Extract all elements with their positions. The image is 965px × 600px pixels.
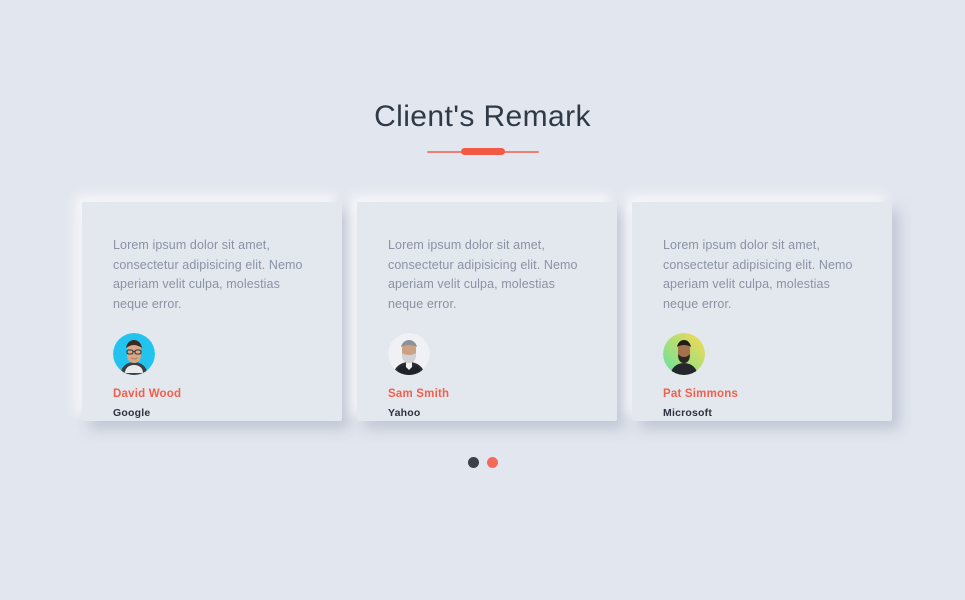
testimonial-card[interactable]: Lorem ipsum dolor sit amet, consectetur … [632,202,892,421]
person-company: Microsoft [663,407,866,419]
underline-thick-bar [461,148,505,155]
testimonial-quote: Lorem ipsum dolor sit amet, consectetur … [113,236,313,314]
section-heading: Client's Remark [0,98,965,157]
carousel-pagination [0,457,965,468]
title-underline-icon [427,147,539,157]
avatar [113,333,155,375]
person-name: David Wood [113,388,316,400]
testimonial-card-list: Lorem ipsum dolor sit amet, consectetur … [82,202,892,422]
pagination-dot-1[interactable] [468,457,479,468]
person-name: Pat Simmons [663,388,866,400]
testimonial-card[interactable]: Lorem ipsum dolor sit amet, consectetur … [82,202,342,421]
avatar [388,333,430,375]
avatar [663,333,705,375]
testimonial-quote: Lorem ipsum dolor sit amet, consectetur … [663,236,863,314]
pagination-dot-2[interactable] [487,457,498,468]
testimonial-quote: Lorem ipsum dolor sit amet, consectetur … [388,236,588,314]
person-name: Sam Smith [388,388,591,400]
person-company: Google [113,407,316,419]
page-title: Client's Remark [0,98,965,136]
testimonial-card[interactable]: Lorem ipsum dolor sit amet, consectetur … [357,202,617,421]
person-company: Yahoo [388,407,591,419]
testimonial-section: Client's Remark Lorem ipsum dolor sit am… [0,0,965,600]
